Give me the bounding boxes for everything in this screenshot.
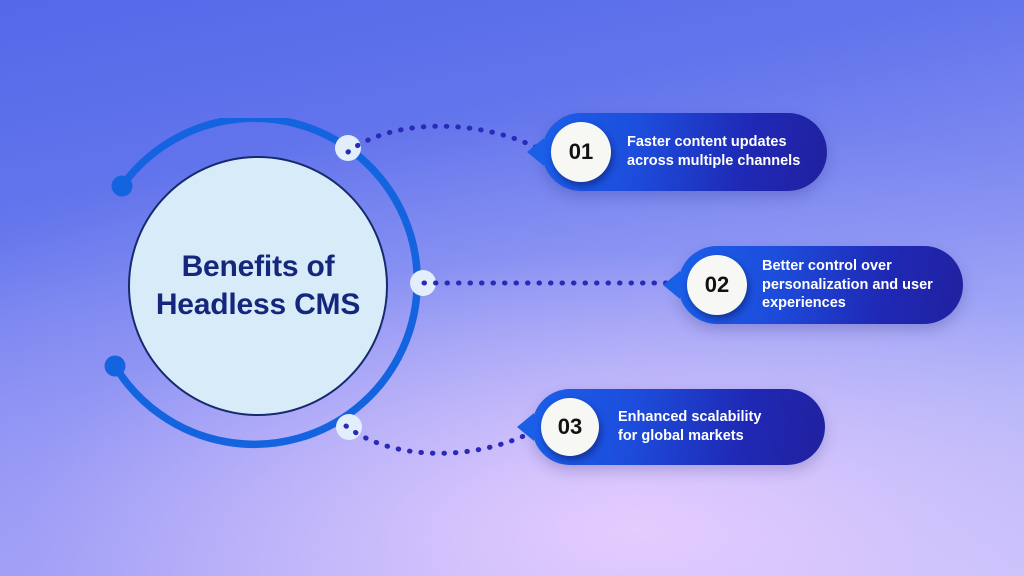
badge-number-3: 03 <box>541 398 599 456</box>
badge-number-2: 02 <box>687 255 747 315</box>
benefit-text-2: Better control over personalization and … <box>762 257 933 314</box>
ring-cap-bottom <box>105 356 126 377</box>
connector-line-2 <box>418 262 698 304</box>
card-tail-icon <box>527 138 544 166</box>
core-circle: Benefits of Headless CMS <box>128 156 388 416</box>
node-middle[interactable] <box>410 270 436 296</box>
card-tail-icon <box>663 271 680 299</box>
benefit-card-2[interactable]: 02 Better control over personalization a… <box>678 246 963 324</box>
page-title: Benefits of Headless CMS <box>144 248 372 325</box>
card-tail-icon <box>517 413 534 441</box>
badge-number-1: 01 <box>551 122 611 182</box>
infographic-canvas: Benefits of Headless CMS 01 Faster conte… <box>0 0 1024 576</box>
node-top[interactable] <box>335 135 361 161</box>
benefit-card-1[interactable]: 01 Faster content updates across multipl… <box>542 113 827 191</box>
benefit-text-1: Faster content updates across multiple c… <box>627 133 800 171</box>
ring-cap-top <box>112 176 133 197</box>
benefit-text-3: Enhanced scalability for global markets <box>618 408 761 446</box>
node-bottom[interactable] <box>336 414 362 440</box>
benefit-card-3[interactable]: 03 Enhanced scalability for global marke… <box>532 389 825 465</box>
